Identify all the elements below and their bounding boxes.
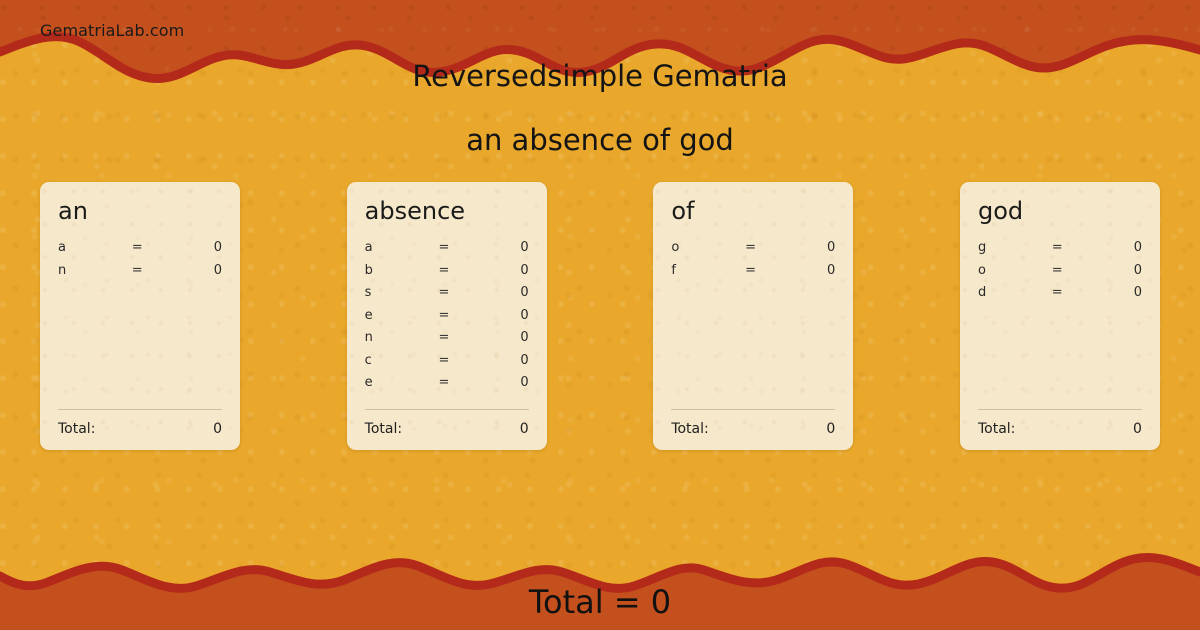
- letter-row: a = 0: [58, 240, 222, 263]
- word-cards-container: an a = 0 n = 0 Total: 0: [40, 182, 1160, 450]
- letter-value: 0: [1088, 285, 1142, 300]
- equals-sign: =: [1052, 263, 1088, 278]
- letter-value: 0: [475, 353, 529, 368]
- card-word-title: god: [978, 198, 1142, 224]
- card-total-value: 0: [826, 421, 835, 437]
- card-word-title: absence: [365, 198, 529, 224]
- letter-value: 0: [1088, 263, 1142, 278]
- card-total-row: Total: 0: [671, 410, 835, 450]
- equals-sign: =: [438, 285, 474, 300]
- card-spacer: [978, 308, 1142, 409]
- equals-sign: =: [132, 240, 168, 255]
- letter-char: o: [671, 240, 745, 255]
- letter-value: 0: [168, 240, 222, 255]
- letter-char: f: [671, 263, 745, 278]
- card-total-row: Total: 0: [365, 410, 529, 450]
- letter-row: o = 0: [978, 263, 1142, 286]
- equals-sign: =: [1052, 240, 1088, 255]
- equals-sign: =: [438, 308, 474, 323]
- card-total-label: Total:: [58, 421, 213, 437]
- grand-total: Total = 0: [0, 583, 1200, 621]
- letter-char: n: [365, 330, 439, 345]
- equals-sign: =: [1052, 285, 1088, 300]
- letter-row: a = 0: [365, 240, 529, 263]
- card-total-row: Total: 0: [978, 410, 1142, 450]
- letter-row: n = 0: [58, 263, 222, 286]
- equals-sign: =: [438, 263, 474, 278]
- letter-char: b: [365, 263, 439, 278]
- letter-row: e = 0: [365, 375, 529, 398]
- letter-rows: g = 0 o = 0 d = 0: [978, 240, 1142, 308]
- letter-char: a: [58, 240, 132, 255]
- letter-row: o = 0: [671, 240, 835, 263]
- word-card: absence a = 0 b = 0 s = 0 e: [347, 182, 547, 450]
- word-card: an a = 0 n = 0 Total: 0: [40, 182, 240, 450]
- letter-row: f = 0: [671, 263, 835, 286]
- letter-rows: a = 0 n = 0: [58, 240, 222, 285]
- equals-sign: =: [132, 263, 168, 278]
- letter-char: e: [365, 308, 439, 323]
- letter-rows: o = 0 f = 0: [671, 240, 835, 285]
- card-spacer: [671, 285, 835, 409]
- letter-char: n: [58, 263, 132, 278]
- letter-row: g = 0: [978, 240, 1142, 263]
- letter-char: s: [365, 285, 439, 300]
- gematria-poster: GematriaLab.com Reversedsimple Gematria …: [0, 0, 1200, 630]
- equals-sign: =: [745, 263, 781, 278]
- letter-char: g: [978, 240, 1052, 255]
- card-total-value: 0: [1133, 421, 1142, 437]
- equals-sign: =: [745, 240, 781, 255]
- card-total-value: 0: [213, 421, 222, 437]
- letter-row: b = 0: [365, 263, 529, 286]
- word-card: of o = 0 f = 0 Total: 0: [653, 182, 853, 450]
- card-spacer: [365, 398, 529, 409]
- letter-row: n = 0: [365, 330, 529, 353]
- letter-row: d = 0: [978, 285, 1142, 308]
- letter-value: 0: [475, 240, 529, 255]
- card-total-row: Total: 0: [58, 410, 222, 450]
- site-logo[interactable]: GematriaLab.com: [40, 21, 184, 40]
- letter-value: 0: [781, 263, 835, 278]
- equals-sign: =: [438, 330, 474, 345]
- equals-sign: =: [438, 240, 474, 255]
- letter-char: d: [978, 285, 1052, 300]
- letter-row: c = 0: [365, 353, 529, 376]
- card-total-value: 0: [520, 421, 529, 437]
- letter-value: 0: [475, 285, 529, 300]
- letter-char: c: [365, 353, 439, 368]
- card-total-label: Total:: [978, 421, 1133, 437]
- card-total-label: Total:: [365, 421, 520, 437]
- letter-char: a: [365, 240, 439, 255]
- letter-rows: a = 0 b = 0 s = 0 e = 0: [365, 240, 529, 398]
- letter-row: s = 0: [365, 285, 529, 308]
- letter-value: 0: [475, 375, 529, 390]
- card-spacer: [58, 285, 222, 409]
- equals-sign: =: [438, 353, 474, 368]
- letter-value: 0: [475, 263, 529, 278]
- letter-value: 0: [475, 308, 529, 323]
- letter-char: e: [365, 375, 439, 390]
- card-word-title: an: [58, 198, 222, 224]
- card-total-label: Total:: [671, 421, 826, 437]
- letter-value: 0: [475, 330, 529, 345]
- letter-value: 0: [781, 240, 835, 255]
- page-title: Reversedsimple Gematria: [0, 59, 1200, 93]
- letter-char: o: [978, 263, 1052, 278]
- card-word-title: of: [671, 198, 835, 224]
- letter-row: e = 0: [365, 308, 529, 331]
- letter-value: 0: [168, 263, 222, 278]
- equals-sign: =: [438, 375, 474, 390]
- word-card: god g = 0 o = 0 d = 0: [960, 182, 1160, 450]
- letter-value: 0: [1088, 240, 1142, 255]
- phrase-subtitle: an absence of god: [0, 123, 1200, 157]
